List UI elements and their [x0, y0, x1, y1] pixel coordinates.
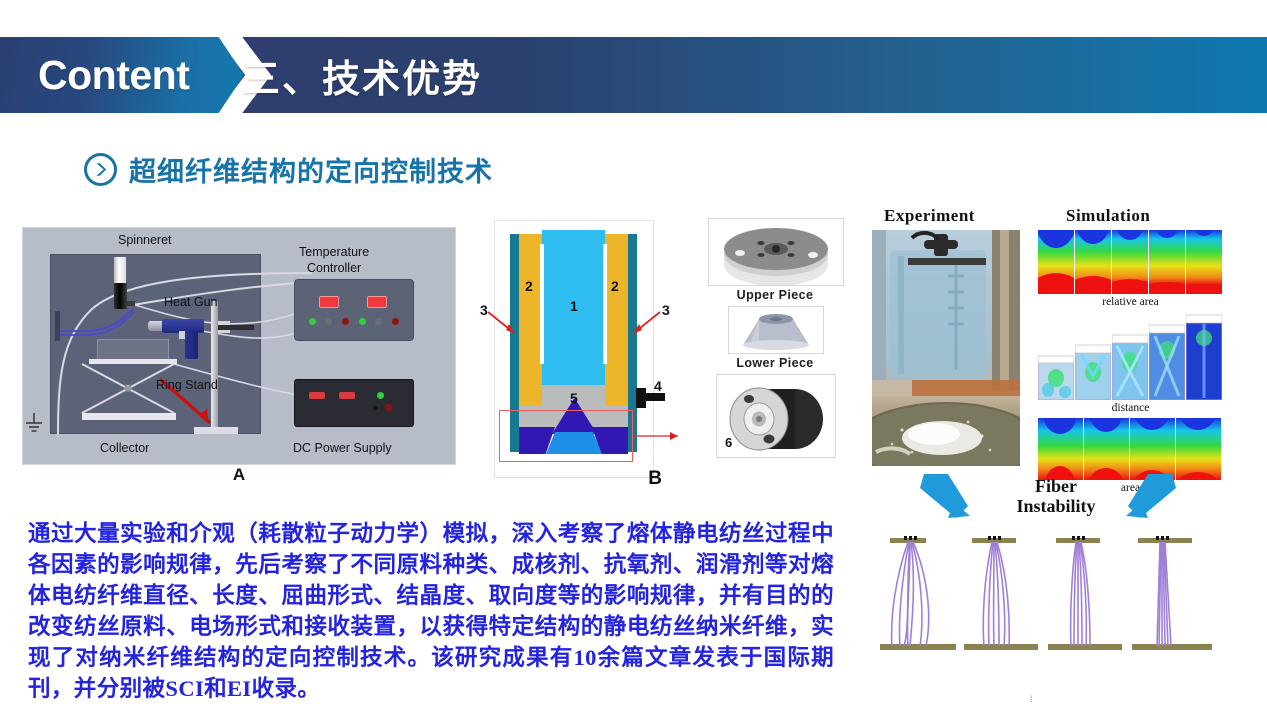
ring-stand-arm: [218, 325, 254, 330]
controller-led-red-2: [392, 318, 399, 325]
banner-content-label: Content: [38, 37, 218, 113]
temperature-controller-box: [294, 279, 414, 341]
heat-gun-handle: [185, 331, 198, 359]
panel-b-callout-arrows: [478, 220, 678, 470]
figure-panel-a: Spinneret Heat Gun Ring Stand Collector …: [22, 227, 456, 485]
label-dc-power-supply: DC Power Supply: [293, 441, 392, 455]
panel-b-callout-2-left: 2: [525, 278, 533, 294]
controller-led-gray-2: [375, 318, 382, 325]
simulation-header: Simulation: [1066, 206, 1150, 226]
dc-led-red: [385, 404, 392, 411]
collector-disc-box: 6: [716, 374, 836, 458]
collector-plate: [89, 359, 177, 364]
figure-panel-c: Upper Piece Lower Piece 6: [700, 218, 850, 500]
fiber-title-line1: Fiber: [966, 476, 1146, 496]
fiber-unit-3: [1048, 536, 1128, 659]
svg-text:6: 6: [725, 435, 732, 450]
label-spinneret: Spinneret: [118, 233, 172, 247]
panel-a-wires: [22, 227, 456, 465]
label-temperature-controller-line1: Temperature: [299, 245, 369, 259]
experiment-header: Experiment: [884, 206, 975, 226]
fiber-instability-title: Fiber Instability: [966, 476, 1146, 516]
page-number-mark: ⁞: [1030, 697, 1036, 708]
controller-display-1: [319, 296, 339, 308]
lower-piece-caption: Lower Piece: [700, 356, 850, 370]
fiber-instability-block: Fiber Instability: [866, 478, 1251, 668]
dc-led-dark: [373, 406, 377, 410]
fiber-unit-4: [1132, 536, 1228, 659]
panel-b-callout-2-right: 2: [611, 278, 619, 294]
ring-stand-base: [194, 427, 238, 434]
dc-power-supply-box: [294, 379, 414, 427]
sim-caption-distance: distance: [1038, 402, 1223, 414]
figure-panel-b: 2 2 1 3 3 4 5 B: [478, 220, 678, 510]
lower-piece-box: [728, 306, 824, 354]
chevron-right-circle-icon: [84, 153, 117, 186]
ring-stand-pole: [211, 301, 218, 433]
label-collector: Collector: [100, 441, 149, 455]
dc-display-2: [339, 392, 355, 399]
section-heading-text: 超细纤维结构的定向控制技术: [129, 150, 493, 189]
controller-led-green-1: [309, 318, 316, 325]
controller-led-gray-1: [325, 318, 332, 325]
panel-b-caption: B: [478, 468, 678, 490]
controller-led-red-1: [342, 318, 349, 325]
experiment-photo: [872, 230, 1020, 466]
label-ring-stand: Ring Stand: [156, 378, 218, 392]
panel-b-callout-3-left: 3: [480, 302, 488, 318]
upper-piece-box: [708, 218, 844, 286]
panel-a-caption: A: [22, 465, 456, 485]
upper-piece-caption: Upper Piece: [700, 288, 850, 302]
figure-panel-d: Experiment Simulation: [866, 200, 1251, 510]
figure-row: Spinneret Heat Gun Ring Stand Collector …: [0, 200, 1267, 510]
controller-display-2: [367, 296, 387, 308]
sim-row-distance: [1038, 312, 1222, 400]
collector-plate-top: [97, 339, 169, 361]
panel-b-callout-1: 1: [570, 298, 578, 314]
spinneret-body: [114, 257, 126, 283]
sim-caption-relative-area: relative area: [1038, 296, 1223, 308]
dc-led-green: [377, 392, 384, 399]
collector-base: [82, 413, 176, 420]
sim-row-area: [1038, 418, 1221, 480]
panel-b-callout-3-right: 3: [662, 302, 670, 318]
fiber-title-line2: Instability: [966, 496, 1146, 516]
section-heading: 超细纤维结构的定向控制技术: [84, 150, 493, 189]
body-paragraph: 通过大量实验和介观（耗散粒子动力学）模拟，深入考察了熔体静电纺丝过程中各因素的影…: [28, 518, 834, 704]
fiber-unit-2: [964, 536, 1044, 659]
panel-b-callout-5: 5: [570, 390, 578, 406]
dc-display-1: [309, 392, 325, 399]
label-temperature-controller-line2: Controller: [307, 261, 361, 275]
page-title: 三、技术优势: [242, 37, 482, 113]
fiber-unit-1: [880, 536, 960, 659]
controller-led-green-2: [359, 318, 366, 325]
sim-row-relative-area: [1038, 230, 1222, 294]
panel-b-callout-4: 4: [654, 378, 662, 394]
label-heat-gun: Heat Gun: [164, 295, 218, 309]
spinneret-nozzle: [126, 301, 135, 306]
